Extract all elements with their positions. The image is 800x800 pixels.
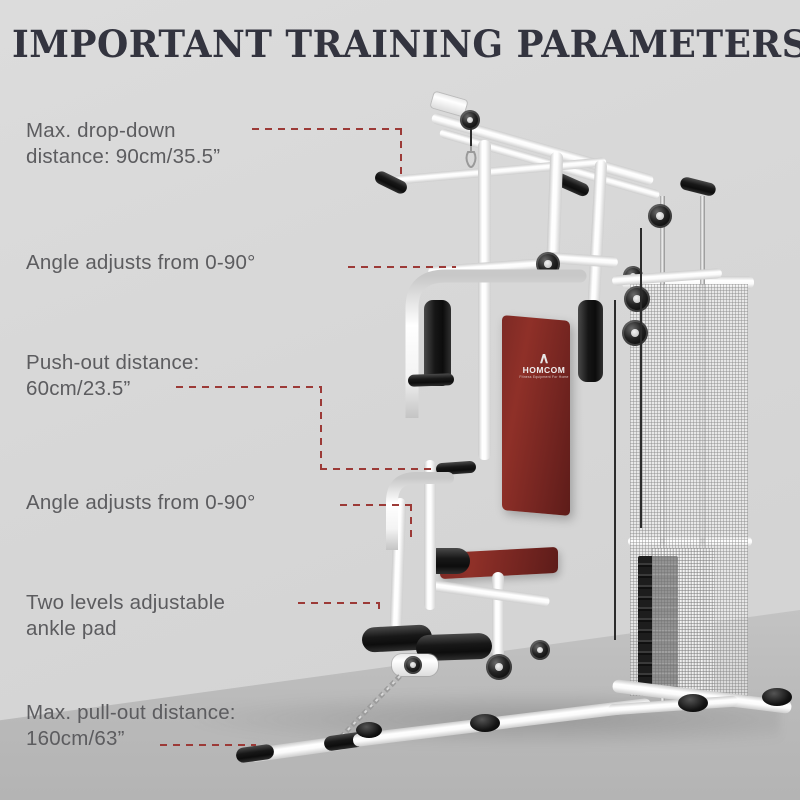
annotation-angle-adjusts-upper: Angle adjusts from 0-90°	[26, 250, 356, 276]
base-foot-center	[470, 714, 500, 732]
seat-support	[430, 580, 550, 608]
annotation-max-drop-down-distance: Max. drop-down distance: 90cm/35.5”	[26, 118, 286, 170]
leader-line-angle-lower	[340, 504, 430, 544]
homcom-mark-icon: ∧	[518, 352, 570, 365]
base-foot-left	[356, 722, 382, 738]
backrest-pad	[502, 315, 570, 516]
homcom-logo: ∧ HOMCOM Fitness Equipment For Home	[518, 352, 570, 379]
press-handle-left	[408, 373, 454, 387]
top-pulley	[460, 110, 480, 130]
weight-guard-front	[652, 548, 714, 696]
leader-line-pull-out	[160, 744, 270, 750]
leader-line-max-drop-down	[252, 128, 422, 178]
stack-pulley-low	[622, 320, 648, 346]
base-foot-right	[762, 688, 792, 706]
infographic-canvas: IMPORTANT TRAINING PARAMETERS	[0, 0, 800, 800]
leader-line-push-out	[176, 386, 436, 476]
low-pulley-rear	[530, 640, 550, 660]
leader-line-angle-upper	[348, 266, 458, 270]
stack-pulley-top	[648, 204, 672, 228]
annotation-angle-adjusts-lower: Angle adjusts from 0-90°	[26, 490, 356, 516]
stack-cable-a	[640, 228, 642, 528]
homcom-tagline: Fitness Equipment For Home	[518, 375, 570, 379]
stack-cable-b	[614, 300, 616, 640]
annotation-two-levels-ankle-pad: Two levels adjustable ankle pad	[26, 590, 326, 642]
stack-pulley-mid	[624, 286, 650, 312]
base-foot-stack	[678, 694, 708, 712]
leader-line-ankle-pad	[298, 602, 398, 622]
stack-arm-grip	[679, 176, 717, 197]
seat-post	[492, 572, 504, 658]
homcom-wordmark: HOMCOM	[518, 365, 570, 375]
low-pulley	[486, 654, 512, 680]
